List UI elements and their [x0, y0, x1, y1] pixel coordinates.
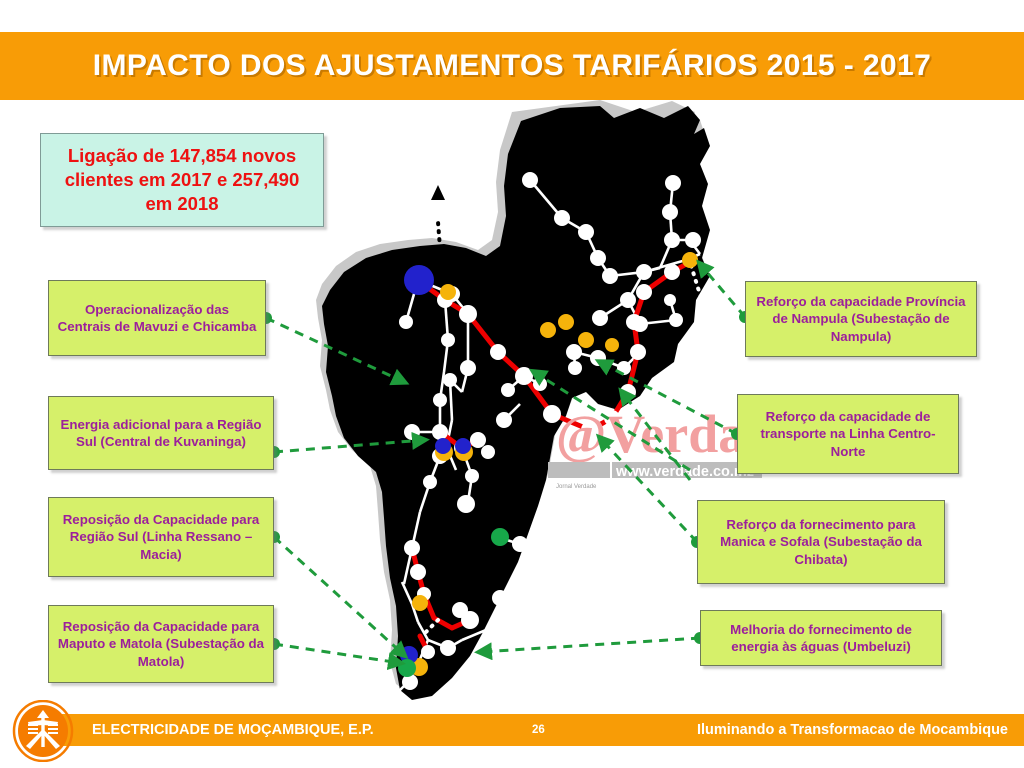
connector-mavuzi	[266, 318, 404, 382]
callout-chibata-text: Reforço da fornecimento para Manica e So…	[706, 516, 936, 567]
page-number: 26	[532, 714, 545, 746]
footer-tagline: Iluminando a Transformacao de Mocambique	[697, 714, 1008, 746]
connector-matola	[274, 644, 400, 663]
callout-ressano-macia[interactable]: Reposição da Capacidade para Região Sul …	[48, 497, 274, 577]
connector-chibata	[600, 438, 697, 542]
callout-umbeluzi[interactable]: Melhoria do fornecimento de energia às á…	[700, 610, 942, 666]
callout-matola[interactable]: Reposição da Capacidade para Maputo e Ma…	[48, 605, 274, 683]
page-title: IMPACTO DOS AJUSTAMENTOS TARIFÁRIOS 2015…	[0, 32, 1024, 100]
connector-centronorte	[600, 362, 737, 434]
callout-kuvaninga[interactable]: Energia adicional para a Região Sul (Cen…	[48, 396, 274, 470]
callout-kuvaninga-text: Energia adicional para a Região Sul (Cen…	[57, 416, 265, 450]
callout-umbeluzi-text: Melhoria do fornecimento de energia às á…	[709, 621, 933, 655]
header-bar: IMPACTO DOS AJUSTAMENTOS TARIFÁRIOS 2015…	[0, 32, 1024, 100]
connector-kuvaninga	[274, 440, 424, 452]
footer-bar: ELECTRICIDADE DE MOÇAMBIQUE, E.P. 26 Ilu…	[62, 714, 1024, 746]
edm-logo-icon	[12, 700, 74, 762]
callout-nampula[interactable]: Reforço da capacidade Província de Nampu…	[745, 281, 977, 357]
connector-umbeluzi	[480, 638, 700, 652]
connector-nampula	[700, 264, 745, 317]
callout-new-clients[interactable]: Ligação de 147,854 novos clientes em 201…	[40, 133, 324, 227]
connector-dots	[260, 311, 751, 650]
callout-nampula-text: Reforço da capacidade Província de Nampu…	[754, 293, 968, 344]
callout-ressano-macia-text: Reposição da Capacidade para Região Sul …	[57, 511, 265, 562]
callout-centro-norte-text: Reforço da capacidade de transporte na L…	[746, 408, 950, 459]
callout-new-clients-text: Ligação de 147,854 novos clientes em 201…	[49, 144, 315, 215]
callout-matola-text: Reposição da Capacidade para Maputo e Ma…	[57, 618, 265, 669]
footer-company: ELECTRICIDADE DE MOÇAMBIQUE, E.P.	[92, 714, 374, 746]
callout-mavuzi-chicamba-text: Operacionalização das Centrais de Mavuzi…	[57, 301, 257, 335]
connector-ressano	[274, 537, 404, 655]
callout-mavuzi-chicamba[interactable]: Operacionalização das Centrais de Mavuzi…	[48, 280, 266, 356]
callout-chibata[interactable]: Reforço da fornecimento para Manica e So…	[697, 500, 945, 584]
connector-centro-2	[534, 372, 690, 470]
callout-centro-norte[interactable]: Reforço da capacidade de transporte na L…	[737, 394, 959, 474]
